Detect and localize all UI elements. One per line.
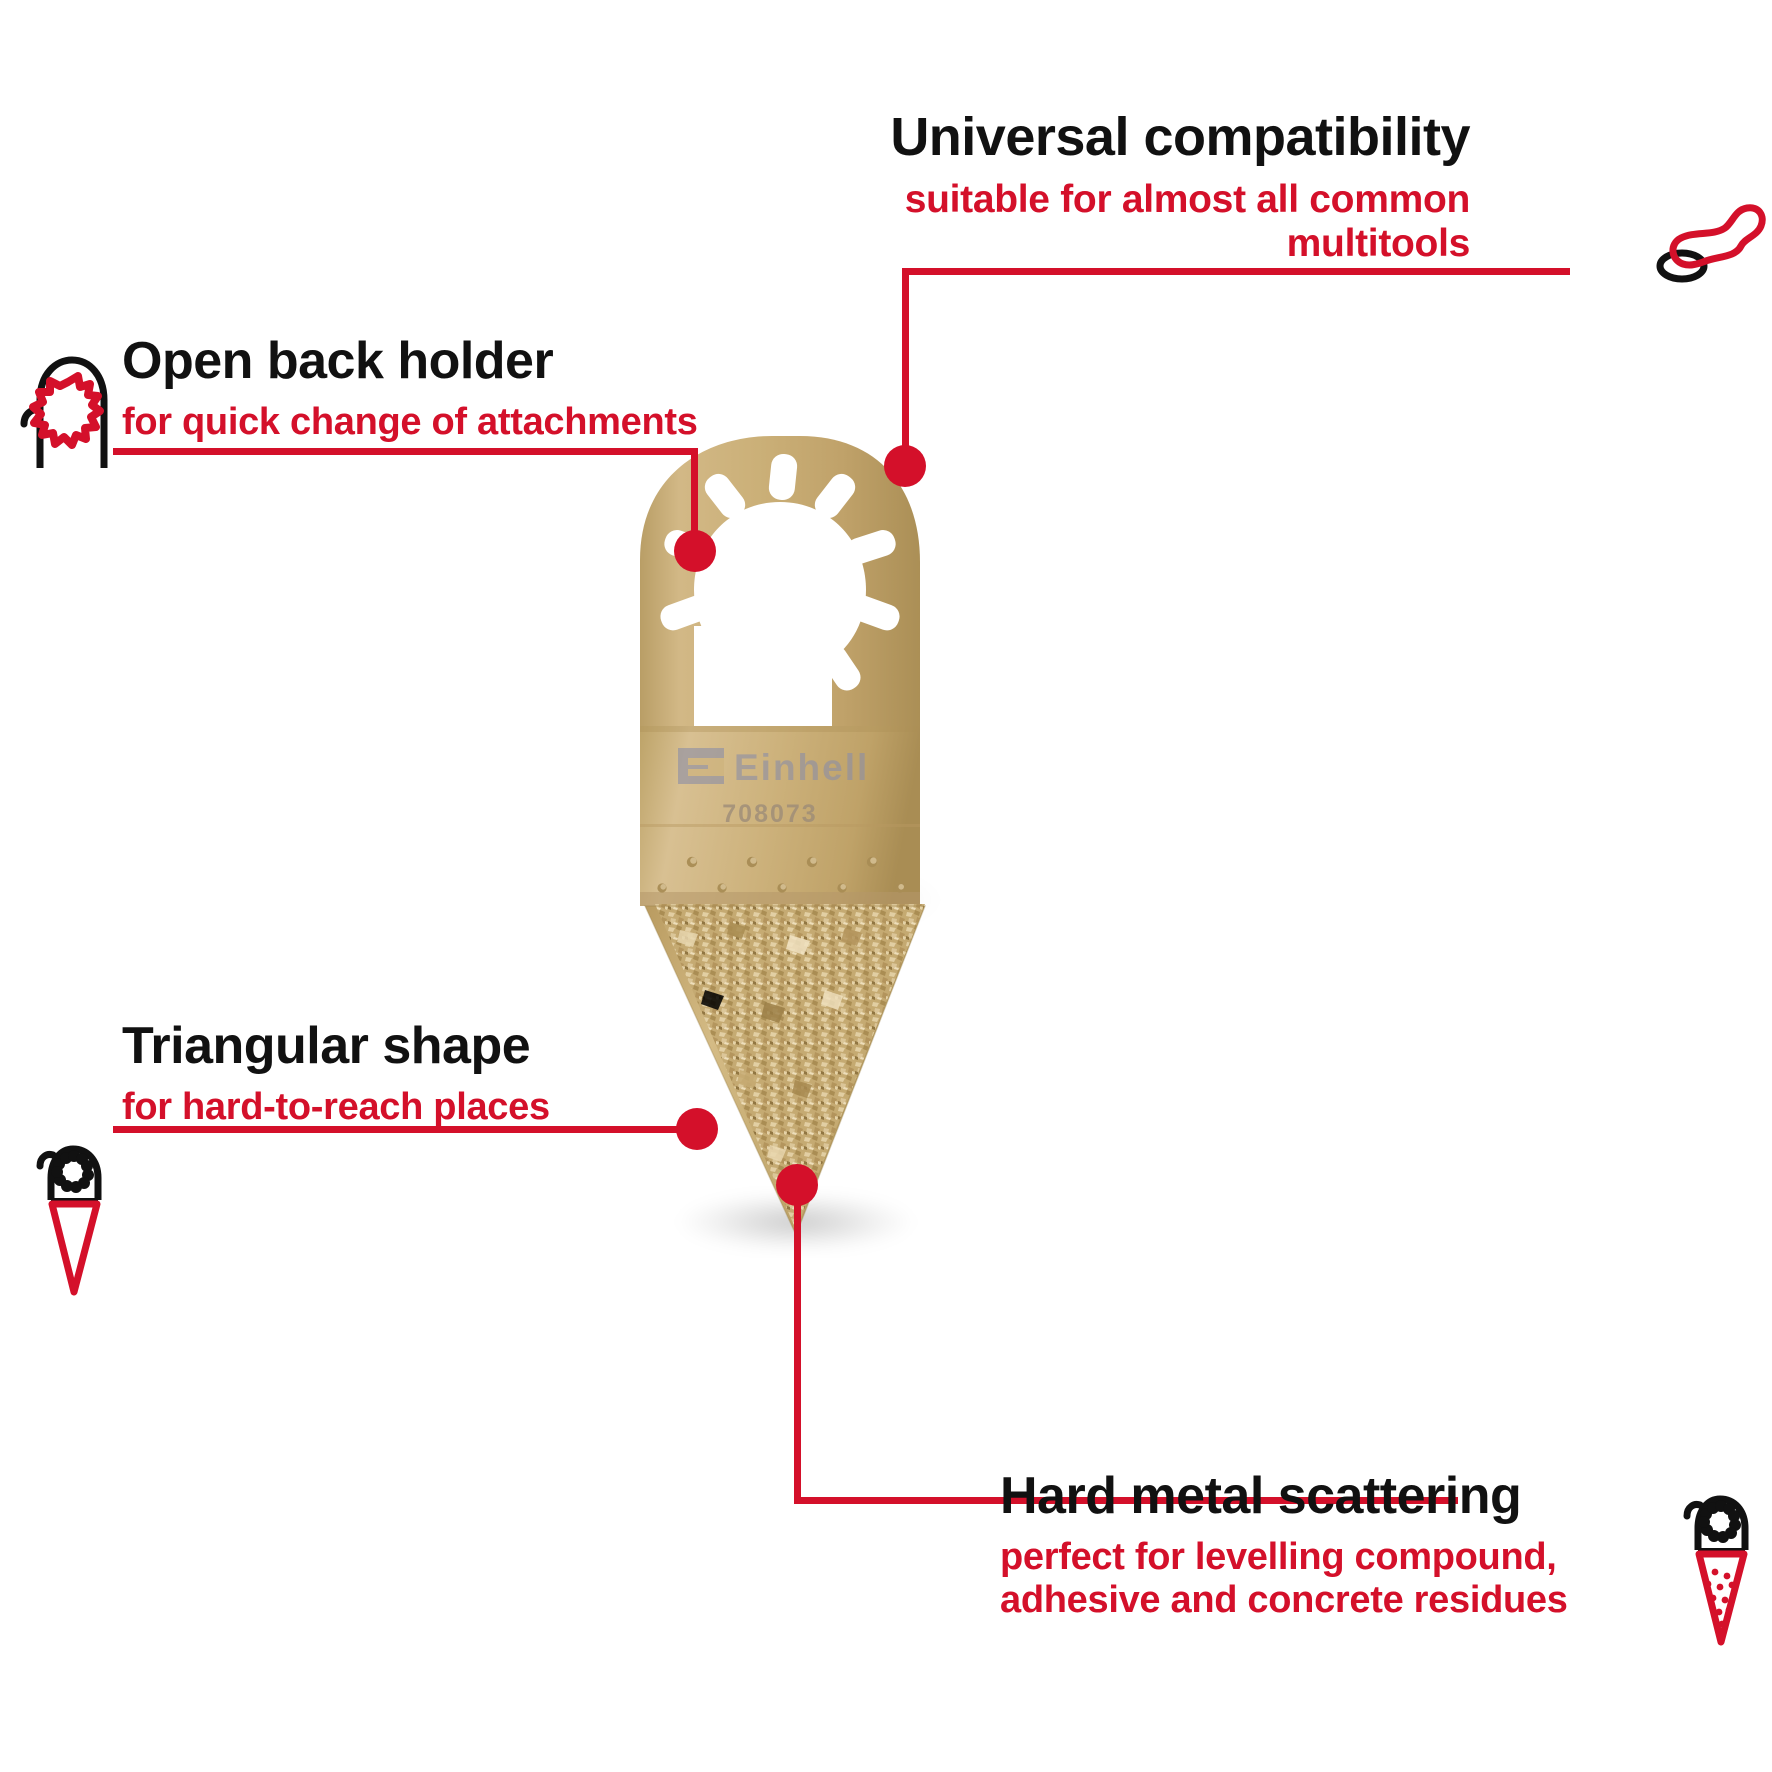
blade-body: Einhell 708073 xyxy=(640,726,920,906)
callout-subtitle-line-1: for hard-to-reach places xyxy=(122,1086,822,1129)
callout-hard-metal-scattering: Hard metal scattering perfect for levell… xyxy=(1000,1470,1660,1621)
callout-subtitle-line-1: perfect for levelling compound, xyxy=(1000,1536,1660,1579)
callout-subtitle-line-2: adhesive and concrete residues xyxy=(1000,1579,1660,1622)
infographic-canvas: Einhell 708073 xyxy=(0,0,1772,1772)
callout-title: Open back holder xyxy=(122,335,822,387)
callout-subtitle-line-1: suitable for almost all common xyxy=(700,178,1470,222)
blade-mount xyxy=(640,436,920,750)
connector-hardmetal-vertical xyxy=(794,1190,801,1504)
callout-subtitle-line-2: multitools xyxy=(700,222,1470,266)
brand-logo: Einhell xyxy=(678,747,869,788)
callout-open-back-holder: Open back holder for quick change of att… xyxy=(122,335,822,444)
connector-openback-dot xyxy=(674,530,716,572)
connector-universal-dot xyxy=(884,445,926,487)
callout-triangular-shape: Triangular shape for hard-to-reach place… xyxy=(122,1020,822,1129)
callout-title: Hard metal scattering xyxy=(1000,1470,1660,1522)
connector-universal-vertical xyxy=(902,268,909,463)
callout-universal-compatibility: Universal compatibility suitable for alm… xyxy=(700,110,1470,265)
wrench-icon xyxy=(1655,196,1767,286)
callout-title: Triangular shape xyxy=(122,1020,822,1072)
connector-hardmetal-dot xyxy=(776,1164,818,1206)
connector-universal-horizontal xyxy=(902,268,1570,275)
callout-subtitle-line-1: for quick change of attachments xyxy=(122,401,822,444)
connector-openback-horizontal xyxy=(113,448,698,455)
grit-blade-icon xyxy=(1675,1490,1761,1660)
part-number: 708073 xyxy=(722,800,817,828)
callout-title: Universal compatibility xyxy=(700,110,1470,164)
open-back-holder-icon xyxy=(18,352,110,470)
triangular-blade-icon xyxy=(28,1140,114,1310)
svg-text:Einhell: Einhell xyxy=(734,747,869,788)
